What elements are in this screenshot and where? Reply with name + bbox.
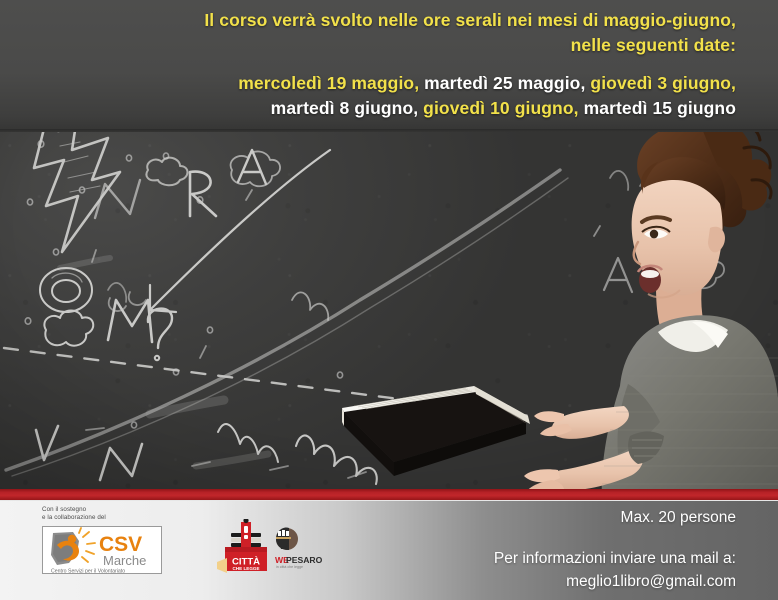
date-giovedi-3-giugno: giovedì 3 giugno,	[585, 73, 736, 93]
header-band: Il corso verrà svolto nelle ore serali n…	[0, 0, 778, 132]
info-block: Per informazioni inviare una mail a: meg…	[494, 547, 736, 593]
footer-sponsors-left: Con il sostegno e la collaborazione del	[42, 506, 182, 574]
footer-sponsors-center: CITTÀ CHE LEGGE WE PESARO in città che l…	[215, 519, 335, 579]
wepesaro-logo-rest: PESARO	[286, 555, 323, 565]
info-line: Per informazioni inviare una mail a:	[494, 547, 736, 570]
date-martedi-15-giugno: martedì 15 giugno	[579, 98, 736, 118]
header-text-block: Il corso verrà svolto nelle ore serali n…	[116, 8, 736, 121]
dates-line-1: mercoledì 19 maggio, martedì 25 maggio, …	[116, 71, 736, 96]
wepesaro-logo-tagline: in città che legge	[276, 565, 303, 569]
intro-line-1: Il corso verrà svolto nelle ore serali n…	[116, 8, 736, 33]
date-giovedi-10-giugno: giovedì 10 giugno,	[418, 98, 578, 118]
support-caption-line-2: e la collaborazione del	[42, 514, 182, 522]
date-mercoledi-19-maggio: mercoledì 19 maggio,	[238, 73, 419, 93]
csv-logo-region: Marche	[103, 553, 146, 568]
date-martedi-25-maggio: martedì 25 maggio,	[419, 73, 585, 93]
csv-marche-logo-graphic: CSV Marche Centro Servizi per il Volonta…	[43, 527, 162, 574]
dates-block: mercoledì 19 maggio, martedì 25 maggio, …	[116, 71, 736, 121]
contact-email[interactable]: meglio1libro@gmail.com	[494, 570, 736, 593]
poster-root: Il corso verrà svolto nelle ore serali n…	[0, 0, 778, 600]
open-book	[340, 376, 540, 486]
citta-logo-line-2: CHE LEGGE	[232, 566, 259, 571]
dates-line-2: martedì 8 giugno, giovedì 10 giugno, mar…	[116, 96, 736, 121]
max-people-text: Max. 20 persone	[494, 507, 736, 529]
intro-line-2: nelle seguenti date:	[116, 33, 736, 58]
citta-wepesaro-logos-graphic: CITTÀ CHE LEGGE WE PESARO in città che l…	[215, 519, 335, 579]
support-caption-line-1: Con il sostegno	[42, 506, 182, 514]
footer-bar: Con il sostegno e la collaborazione del	[0, 501, 778, 600]
date-martedi-8-giugno: martedì 8 giugno,	[271, 98, 419, 118]
footer-contact-block: Max. 20 persone Per informazioni inviare…	[494, 507, 736, 593]
csv-marche-logo: CSV Marche Centro Servizi per il Volonta…	[42, 526, 162, 574]
csv-logo-tagline: Centro Servizi per il Volontariato	[51, 568, 125, 574]
